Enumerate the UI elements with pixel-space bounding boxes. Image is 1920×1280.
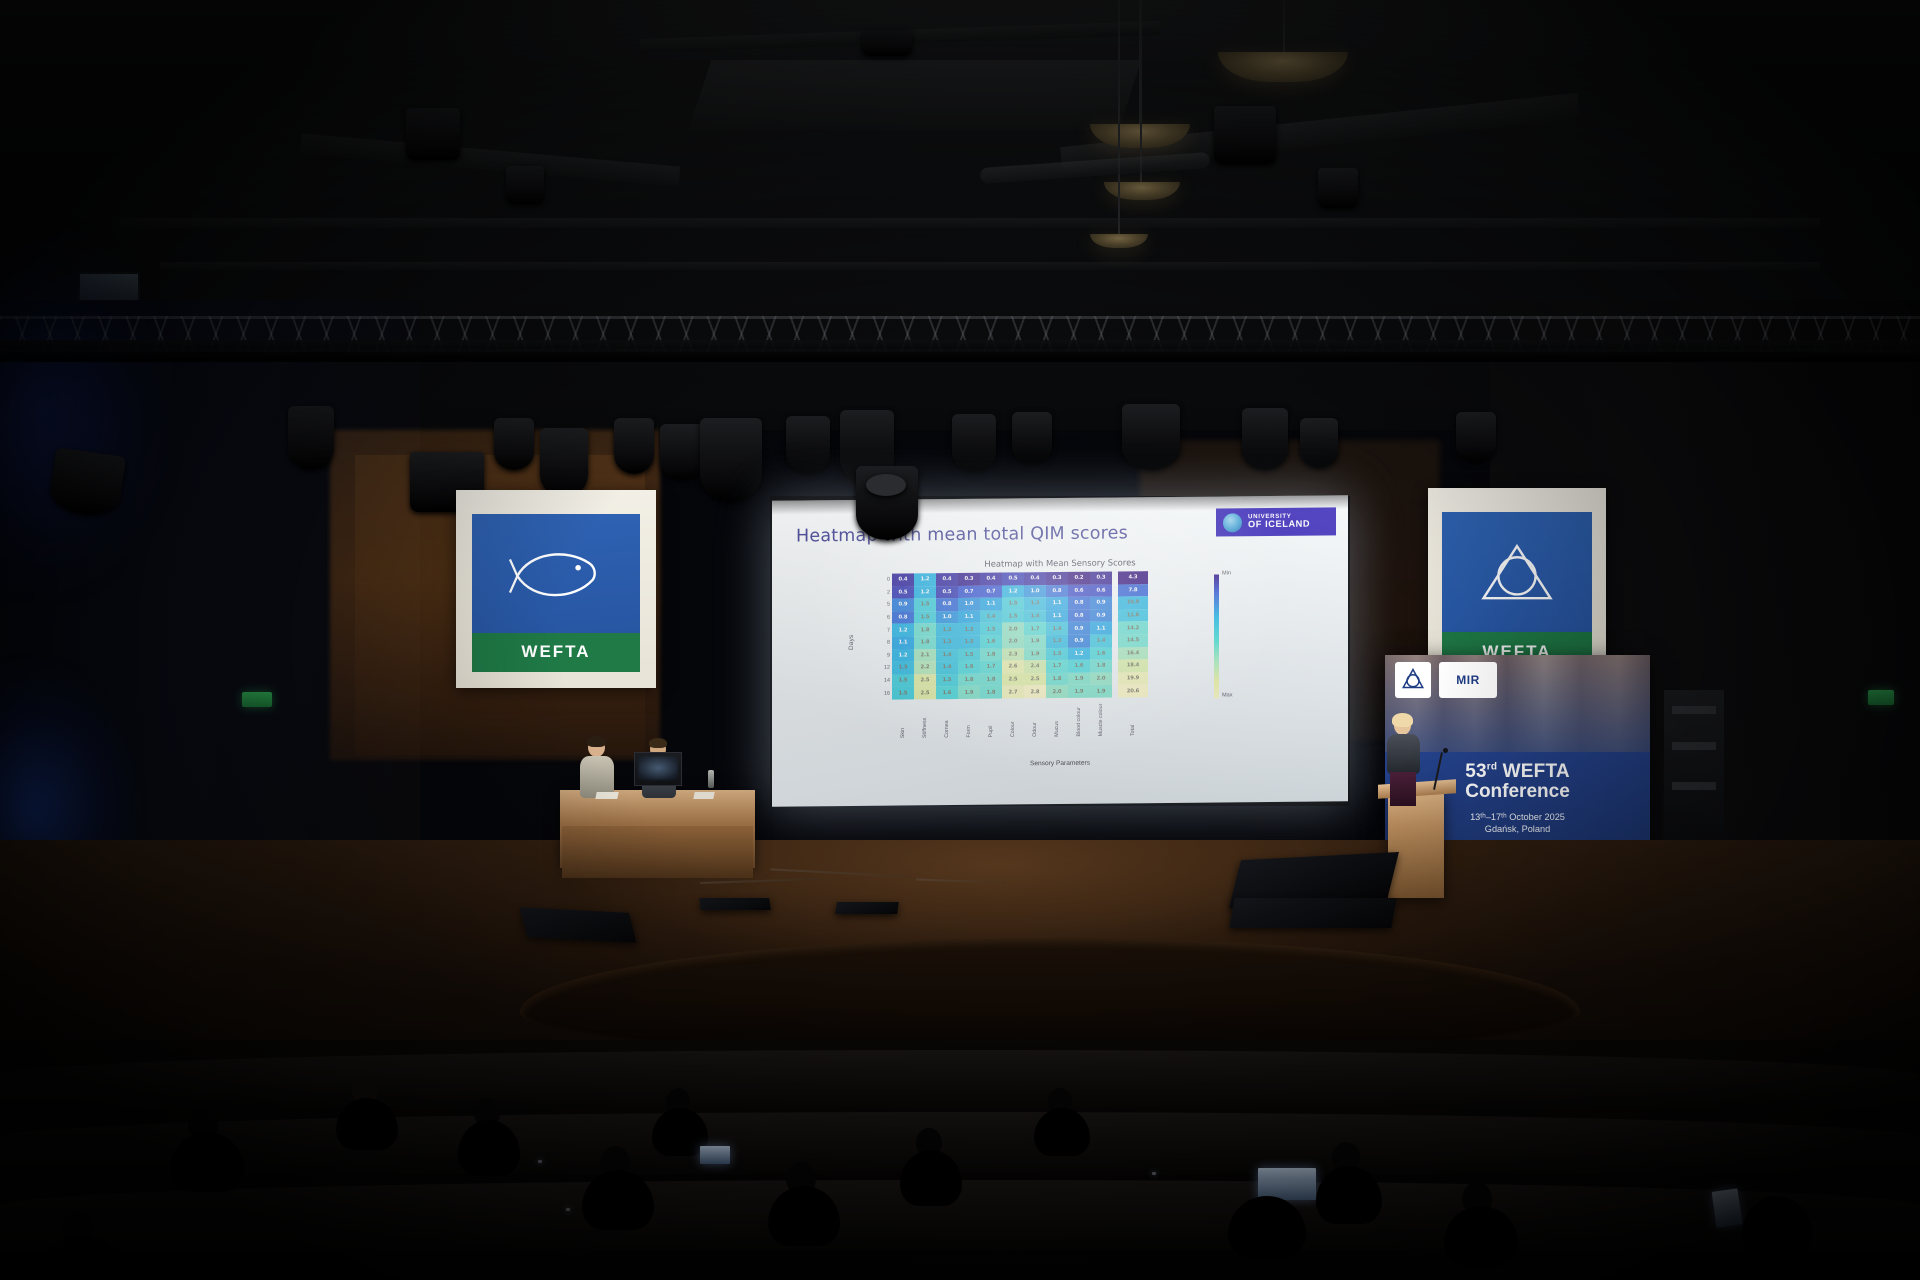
heatmap-cell: 2.0 <box>1002 635 1024 648</box>
y-axis-label: Days <box>848 635 855 650</box>
heatmap-cell: 2.6 <box>1002 661 1024 674</box>
stage-monitor-wedge <box>1229 898 1396 928</box>
conference-number: 53 <box>1465 761 1487 782</box>
conference-org: WEFTA <box>1497 761 1570 782</box>
heatmap-cell: 0.9 <box>1068 622 1090 635</box>
heatmap-cell: 1.1 <box>1046 610 1068 623</box>
heatmap-cell: 2.8 <box>1024 685 1046 698</box>
ceiling-speaker <box>862 30 912 56</box>
y-tick: 7 <box>876 624 892 637</box>
heatmap-cell: 1.6 <box>958 661 980 674</box>
heatmap-cell: 1.4 <box>1090 634 1112 647</box>
x-axis-label: Sensory Parameters <box>772 757 1348 770</box>
heatmap-cell: 2.5 <box>914 687 936 700</box>
y-tick: 6 <box>876 611 892 624</box>
heatmap-cell: 0.5 <box>892 586 914 599</box>
heatmap-cell: 0.7 <box>958 585 980 598</box>
conference-banner-logos: MIR <box>1395 662 1497 698</box>
heatmap-cell: 2.2 <box>914 661 936 674</box>
stage-monitor-wedge <box>835 902 899 914</box>
heatmap-cell: 0.3 <box>1090 572 1112 585</box>
heatmap-cell: 1.5 <box>1002 598 1024 611</box>
heatmap-cell: 1.8 <box>980 648 1002 661</box>
seat-row <box>0 1050 1920 1108</box>
equipment-rack-light <box>1672 742 1716 750</box>
x-tick: Mucus <box>1054 704 1060 737</box>
chart-title: Heatmap with Mean Sensory Scores <box>772 555 1348 571</box>
heatmap-cell: 1.0 <box>958 598 980 611</box>
heatmap-cell: 1.2 <box>914 586 936 599</box>
heatmap-cell: 1.1 <box>980 598 1002 611</box>
panel-table-skirt <box>562 826 753 878</box>
heatmap-cell: 0.3 <box>1046 572 1068 585</box>
wefta-banner-blue-field <box>472 514 640 633</box>
conference-title-line-1: 53rd WEFTA <box>1397 762 1638 783</box>
conference-ordinal: rd <box>1487 761 1497 772</box>
panel-person-left <box>578 738 618 798</box>
logo-text: UNIVERSITY OF ICELAND <box>1248 514 1310 530</box>
heatmap-cell: 1.2 <box>914 573 936 586</box>
heatmap-cell: 1.5 <box>936 674 958 687</box>
stage-light <box>1456 412 1496 462</box>
heatmap-cell: 0.5 <box>936 586 958 599</box>
x-tick: Odour <box>1032 704 1038 737</box>
heatmap-cell: 0.8 <box>936 598 958 611</box>
ceiling-speaker <box>506 166 544 204</box>
heatmap-total-cell: 20.6 <box>1118 684 1148 697</box>
heatmap-cell: 1.4 <box>980 610 1002 623</box>
globe-icon <box>1223 513 1242 532</box>
aisle-step-light <box>1152 1172 1156 1175</box>
x-tick: Blood colour <box>1076 704 1082 737</box>
stage-light <box>786 416 830 474</box>
heatmap-cell: 1.9 <box>958 686 980 699</box>
heatmap-cell: 1.3 <box>958 623 980 636</box>
y-tick: 9 <box>876 649 892 662</box>
lectern <box>1388 790 1444 898</box>
heatmap-cell: 1.3 <box>936 623 958 636</box>
heatmap-cell: 0.6 <box>1068 584 1090 597</box>
heatmap-cell: 1.3 <box>958 636 980 649</box>
stage-monitor-wedge <box>699 898 771 910</box>
heatmap-cell: 0.6 <box>1090 584 1112 597</box>
ceiling-beam <box>689 60 1142 130</box>
person-hair <box>1392 713 1413 727</box>
stage-light <box>1122 404 1180 470</box>
heatmap-total-cell: 4.3 <box>1118 571 1148 584</box>
fish-logo-icon <box>1463 537 1571 611</box>
x-tick: Cornea <box>944 705 950 738</box>
stage-light <box>1242 408 1288 470</box>
heatmap-cell: 1.5 <box>914 598 936 611</box>
x-tick: Pupil <box>988 705 994 738</box>
heatmap-total-cell: 10.9 <box>1118 596 1148 609</box>
stage-light <box>660 424 704 480</box>
fish-logo-icon <box>496 539 617 613</box>
stage-light <box>288 406 334 470</box>
heatmap-cell: 2.4 <box>1024 660 1046 673</box>
stage-light <box>700 418 762 502</box>
heatmap-total-cell: 19.9 <box>1118 672 1148 685</box>
heatmap-total-cell: 7.8 <box>1118 584 1148 597</box>
y-tick: 0 <box>876 574 892 587</box>
heatmap-cell: 1.1 <box>892 636 914 649</box>
heatmap-cell: 1.8 <box>980 686 1002 699</box>
equipment-rack-light <box>1672 782 1716 790</box>
logo-line-2: OF ICELAND <box>1248 520 1310 530</box>
aisle-step-light <box>566 1208 570 1211</box>
heatmap-cell: 0.9 <box>892 599 914 612</box>
heatmap-cell: 1.9 <box>1090 685 1112 698</box>
heatmap-cell: 1.4 <box>1024 610 1046 623</box>
heatmap-cell: 2.7 <box>1002 686 1024 699</box>
heatmap-cell: 1.5 <box>1046 647 1068 660</box>
y-tick: 8 <box>876 637 892 650</box>
x-tick-total: Total <box>1130 703 1136 736</box>
heatmap-cell: 1.5 <box>892 674 914 687</box>
heatmap-cell: 1.5 <box>1002 610 1024 623</box>
y-tick: 14 <box>876 674 892 687</box>
heatmap-cell: 2.0 <box>1046 685 1068 698</box>
heatmap-cell: 1.0 <box>936 611 958 624</box>
stage-light <box>1012 412 1052 464</box>
exit-sign <box>242 692 272 707</box>
heatmap-cell: 0.9 <box>1090 609 1112 622</box>
x-tick-gap <box>1112 703 1118 736</box>
heatmap-cell: 0.5 <box>1002 572 1024 585</box>
x-tick: Muscle colour <box>1098 704 1104 737</box>
heatmap-cell: 1.5 <box>980 623 1002 636</box>
heatmap-cell: 1.2 <box>892 624 914 637</box>
heatmap-cell: 1.3 <box>892 662 914 675</box>
equipment-rack-light <box>1672 706 1716 714</box>
heatmap-total-cell: 14.2 <box>1118 622 1148 635</box>
colorbar-min-label: Min <box>1222 570 1231 576</box>
heatmap-cell: 1.7 <box>980 661 1002 674</box>
heatmap-cell: 1.6 <box>1068 660 1090 673</box>
heatmap-cell: 0.7 <box>980 585 1002 598</box>
blue-wall-light <box>0 230 170 590</box>
heatmap-cell: 1.1 <box>1046 597 1068 610</box>
person-torso <box>1387 734 1420 774</box>
stage-light <box>494 418 534 470</box>
ceiling-speaker <box>406 108 460 160</box>
person-hair <box>587 736 606 747</box>
wefta-banner-blue-field <box>1442 512 1592 632</box>
colorbar <box>1214 574 1219 698</box>
pendant-rod <box>1283 0 1285 56</box>
heatmap-cell: 1.9 <box>1024 635 1046 648</box>
heatmap-cell: 2.5 <box>1002 673 1024 686</box>
wefta-banner-left: WEFTA <box>456 490 656 688</box>
heatmap-cell: 1.1 <box>1090 622 1112 635</box>
x-axis-ticks: SkinStiffnessCorneaFormPupilColourOdourM… <box>892 703 1148 738</box>
heatmap-total-cell: 16.4 <box>1118 647 1148 660</box>
microphone-head <box>1443 748 1448 753</box>
heatmap-cell: 0.8 <box>1046 585 1068 598</box>
heatmap-cell: 1.3 <box>1024 597 1046 610</box>
projection-screen: Heatmap with mean total QIM scores UNIVE… <box>772 495 1348 807</box>
person-hair <box>649 738 667 748</box>
x-tick: Skin <box>900 705 906 738</box>
ceiling-speaker <box>1318 168 1358 208</box>
heatmap-cell: 1.9 <box>1068 672 1090 685</box>
x-tick: Colour <box>1010 704 1016 737</box>
heatmap-cell: 1.0 <box>1024 585 1046 598</box>
auditorium-scene: WEFTA WEFTA Heatmap with mean total QIM … <box>0 0 1920 1280</box>
heatmap-total-cell: 11.6 <box>1118 609 1148 622</box>
heatmap-cell: 1.6 <box>1090 647 1112 660</box>
heatmap-cell: 1.8 <box>914 636 936 649</box>
heatmap-total-cell: 14.5 <box>1118 634 1148 647</box>
slide-title: Heatmap with mean total QIM scores <box>796 523 1128 546</box>
heatmap-cell: 1.2 <box>892 649 914 662</box>
aisle-step-light <box>538 1160 542 1163</box>
heatmap-cell: 1.4 <box>936 649 958 662</box>
heatmap-cell: 2.0 <box>1090 672 1112 685</box>
person-legs <box>1390 772 1416 806</box>
heatmap-cell: 0.2 <box>1068 572 1090 585</box>
heatmap-cell: 2.1 <box>914 649 936 662</box>
heatmap-cell: 1.5 <box>958 648 980 661</box>
speaker-presenter <box>1384 716 1424 804</box>
heatmap-cell: 1.6 <box>936 686 958 699</box>
stage-light <box>866 474 906 496</box>
x-tick: Form <box>966 705 972 738</box>
mir-logo-text: MIR <box>1456 673 1480 687</box>
heatmap-cell: 0.9 <box>1068 635 1090 648</box>
y-tick: 2 <box>876 586 892 599</box>
seat-row <box>0 1112 1920 1174</box>
heatmap-cell: 0.4 <box>892 573 914 586</box>
university-of-iceland-logo: UNIVERSITY OF ICELAND <box>1216 507 1336 536</box>
heatmap-cell: 0.3 <box>958 573 980 586</box>
heatmap-cell: 0.8 <box>1068 609 1090 622</box>
heatmap-cell: 1.3 <box>936 636 958 649</box>
heatmap-cell: 2.5 <box>914 674 936 687</box>
heatmap-total-cell: 18.4 <box>1118 659 1148 672</box>
mir-logo-chip: MIR <box>1439 662 1497 698</box>
paper-sheet <box>595 792 618 799</box>
ceiling-beam <box>120 218 1820 228</box>
heatmap-cell: 1.8 <box>914 624 936 637</box>
heatmap-cell: 1.9 <box>1068 685 1090 698</box>
fish-logo-icon <box>1398 665 1428 695</box>
water-bottle <box>708 770 714 788</box>
stage-light <box>952 414 996 472</box>
heatmap-cell: 0.4 <box>980 573 1002 586</box>
heatmap-cell: 1.4 <box>1046 622 1068 635</box>
heatmap-grid: 0.41.20.40.30.40.50.40.30.20.34.30.51.20… <box>892 571 1148 699</box>
stage-monitor-wedge <box>520 907 637 943</box>
pendant-rod <box>1118 0 1120 238</box>
paper-sheet <box>693 792 714 799</box>
heatmap-cell: 1.8 <box>1090 660 1112 673</box>
audience-area <box>0 1040 1920 1280</box>
ceiling-speaker <box>1214 106 1276 164</box>
heatmap-cell: 2.5 <box>1024 673 1046 686</box>
ceiling-beam <box>160 262 1820 270</box>
colorbar-max-label: Max <box>1222 692 1233 698</box>
heatmap-cell: 1.5 <box>914 611 936 624</box>
wefta-logo-chip <box>1395 662 1431 698</box>
heatmap-cell: 0.8 <box>1068 597 1090 610</box>
heatmap-cell: 1.3 <box>1046 635 1068 648</box>
heatmap-cell: 1.1 <box>958 611 980 624</box>
heatmap-cell: 1.5 <box>892 687 914 700</box>
heatmap-cell: 1.7 <box>1024 623 1046 636</box>
exit-sign <box>1868 690 1894 705</box>
stage-light <box>540 428 588 498</box>
audience-device-screen <box>700 1146 730 1164</box>
y-axis-ticks: 0256789121416 <box>876 574 892 700</box>
audience-device-screen <box>1712 1188 1743 1227</box>
x-tick: Stiffness <box>922 705 928 738</box>
stage-light <box>614 418 654 474</box>
heatmap-cell: 1.6 <box>980 636 1002 649</box>
y-tick: 12 <box>876 662 892 675</box>
heatmap-cell: 2.0 <box>1002 623 1024 636</box>
heatmap-cell: 1.8 <box>1046 673 1068 686</box>
heatmap-cell: 1.9 <box>1024 648 1046 661</box>
laptop-screen-glow <box>638 756 678 780</box>
heatmap-cell: 0.4 <box>936 573 958 586</box>
heatmap-cell: 0.8 <box>892 611 914 624</box>
heatmap-cell: 1.8 <box>980 673 1002 686</box>
heatmap-cell: 0.4 <box>1024 572 1046 585</box>
wefta-banner-label: WEFTA <box>472 633 640 673</box>
y-tick: 5 <box>876 599 892 612</box>
stage-light <box>1300 418 1338 468</box>
heatmap-cell: 1.4 <box>936 661 958 674</box>
lighting-truss-bar <box>0 340 1920 362</box>
heatmap-cell: 2.3 <box>1002 648 1024 661</box>
heatmap-cell: 0.9 <box>1090 597 1112 610</box>
heatmap-cell: 1.2 <box>1002 585 1024 598</box>
heatmap-cell: 1.8 <box>958 674 980 687</box>
heatmap-cell: 1.2 <box>1068 647 1090 660</box>
heatmap-cell: 1.7 <box>1046 660 1068 673</box>
y-tick: 16 <box>876 687 892 700</box>
heatmap: 0256789121416 0.41.20.40.30.40.50.40.30.… <box>876 571 1148 700</box>
